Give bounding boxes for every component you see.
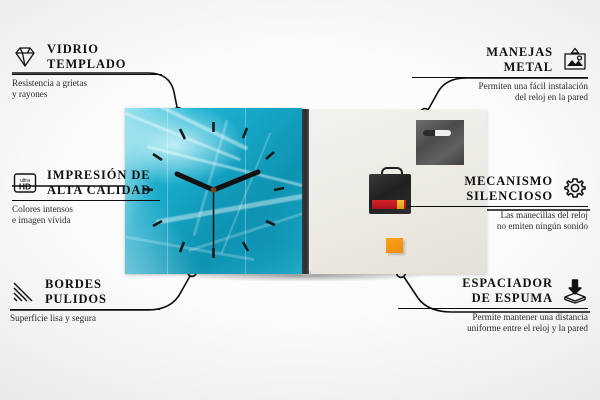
polished-edges-icon <box>10 279 36 305</box>
infographic-canvas: VIDRIO TEMPLADO Resistencia a grietas y … <box>0 0 600 400</box>
clock-hour-hand <box>177 174 214 190</box>
feature-rule <box>398 308 588 309</box>
feature-title-line2: SILENCIOSO <box>464 189 553 204</box>
feature-description: Permite mantener una distancia uniforme … <box>398 312 588 334</box>
feature-espaciador-espuma: ESPACIADOR DE ESPUMA Permite mantener un… <box>398 276 588 334</box>
hanger-slot <box>423 130 451 136</box>
feature-rule <box>12 200 160 201</box>
ultra-hd-icon: ultra HD <box>12 170 38 196</box>
feature-rule <box>10 309 160 310</box>
feature-title-line2: METAL <box>486 60 553 75</box>
feature-manejas-metal: MANEJAS METAL Permiten una fácil instala… <box>412 45 588 103</box>
feature-title: BORDES PULIDOS <box>45 277 107 306</box>
battery-label <box>397 200 404 209</box>
feature-description: Resistencia a grietas y rayones <box>12 78 162 100</box>
feature-description: Colores intensos e imagen vívida <box>12 204 160 226</box>
feature-rule <box>408 206 588 207</box>
feature-title-line1: MANEJAS <box>486 45 553 60</box>
feature-title-line1: ESPACIADOR <box>462 276 553 291</box>
picture-frame-hanging-icon <box>562 47 588 73</box>
feature-title-line2: TEMPLADO <box>47 57 126 72</box>
feature-description: Permiten una fácil instalación del reloj… <box>412 81 588 103</box>
feature-description: Las manecillas del reloj no emiten ningú… <box>408 210 588 232</box>
feature-title-line1: IMPRESIÓN DE <box>47 168 151 183</box>
gear-icon <box>562 176 588 202</box>
diamond-icon <box>12 44 38 70</box>
feature-title-line2: DE ESPUMA <box>462 291 553 306</box>
metal-hanger-plate <box>416 120 464 165</box>
feature-impresion-alta-calidad: ultra HD IMPRESIÓN DE ALTA CALIDAD Color… <box>12 168 160 226</box>
feature-title: MECANISMO SILENCIOSO <box>464 174 553 203</box>
glass-edge <box>302 109 309 274</box>
feature-title-line1: MECANISMO <box>464 174 553 189</box>
feature-title: VIDRIO TEMPLADO <box>47 42 126 71</box>
feature-title-line2: ALTA CALIDAD <box>47 183 151 198</box>
feature-mecanismo-silencioso: MECANISMO SILENCIOSO Las manecillas del … <box>408 174 588 232</box>
feature-title: ESPACIADOR DE ESPUMA <box>462 276 553 305</box>
feature-rule <box>412 77 588 78</box>
clock-center-cap <box>211 187 217 193</box>
feature-vidrio-templado: VIDRIO TEMPLADO Resistencia a grietas y … <box>12 42 162 100</box>
clock-minute-hand <box>214 172 259 190</box>
svg-text:HD: HD <box>19 181 31 191</box>
feature-description: Superficie lisa y segura <box>10 313 160 324</box>
clock-mechanism-box <box>369 172 411 214</box>
feature-rule <box>12 74 162 75</box>
feature-bordes-pulidos: BORDES PULIDOS Superficie lisa y segura <box>10 277 160 324</box>
feature-title-line1: VIDRIO <box>47 42 126 57</box>
feature-title-line2: PULIDOS <box>45 292 107 307</box>
foam-spacer <box>386 238 403 253</box>
feature-title: IMPRESIÓN DE ALTA CALIDAD <box>47 168 151 197</box>
feature-title-line1: BORDES <box>45 277 107 292</box>
foam-spacer-icon <box>562 278 588 304</box>
feature-title: MANEJAS METAL <box>486 45 553 74</box>
